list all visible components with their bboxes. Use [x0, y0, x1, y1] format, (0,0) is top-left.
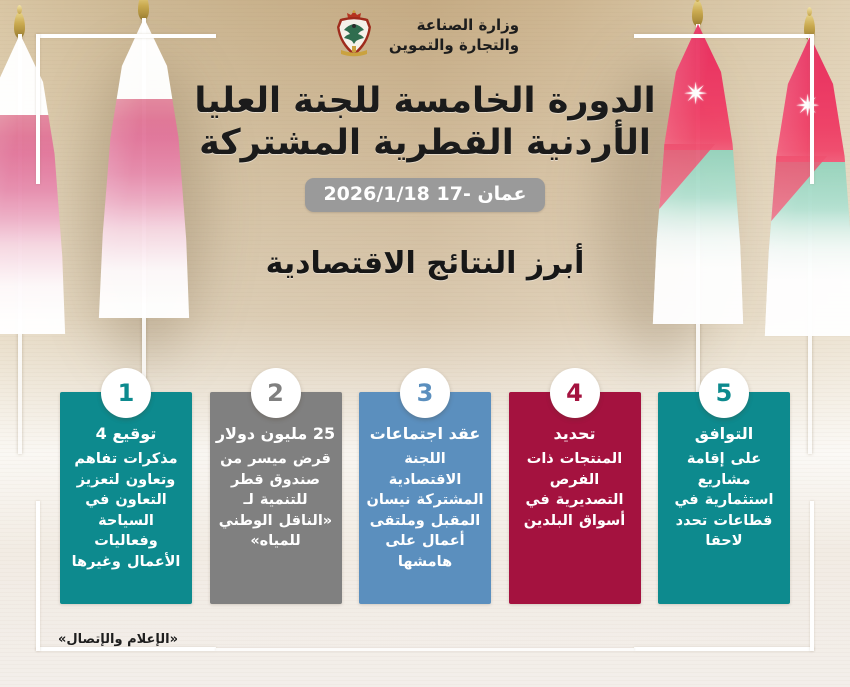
date-location-badge: عمان -17 2026/1/18: [305, 178, 544, 212]
result-heading-5: التوافق: [695, 424, 753, 444]
result-body-4: المنتجات ذات الفرص التصديرية في أسواق ال…: [515, 449, 635, 531]
result-badge-3: 3: [400, 368, 450, 418]
result-body-2: قرض ميسر من صندوق قطر للتنمية لـ «الناقل…: [216, 449, 336, 552]
section-title: أبرز النتائج الاقتصادية: [0, 246, 850, 281]
result-number-1: 1: [106, 373, 146, 413]
ministry-title-line1: وزارة الصناعة: [389, 15, 519, 35]
result-heading-4: تحديد: [553, 424, 595, 444]
result-body-1: مذكرات تفاهم وتعاون لتعزيز التعاون في ال…: [66, 449, 186, 572]
result-heading-1: توقيع 4: [96, 424, 157, 444]
ministry-title: وزارة الصناعة والتجارة والتموين: [389, 15, 519, 56]
result-badge-1: 1: [101, 368, 151, 418]
result-number-3: 3: [405, 373, 445, 413]
results-columns: 5 التوافق على إقامة مشاريع استثمارية في …: [60, 392, 790, 604]
page-title-line1: الدورة الخامسة للجنة العليا: [0, 80, 850, 122]
result-number-4: 4: [555, 373, 595, 413]
result-column-2[interactable]: 2 25 مليون دولار قرض ميسر من صندوق قطر ل…: [210, 392, 342, 604]
result-column-4[interactable]: 4 تحديد المنتجات ذات الفرص التصديرية في …: [509, 392, 641, 604]
result-body-3: اللجنة الاقتصادية المشتركة نيسان المقبل …: [365, 449, 485, 572]
result-column-1[interactable]: 1 توقيع 4 مذكرات تفاهم وتعاون لتعزيز الت…: [60, 392, 192, 604]
result-badge-4: 4: [550, 368, 600, 418]
result-heading-2: 25 مليون دولار: [216, 424, 335, 444]
page-title-line2: الأردنية القطرية المشتركة: [0, 122, 850, 164]
jordan-coat-of-arms-icon: [331, 10, 377, 60]
title-block: الدورة الخامسة للجنة العليا الأردنية الق…: [0, 80, 850, 281]
footer-credit: «الإعلام والإتصال»: [58, 632, 178, 647]
page-title: الدورة الخامسة للجنة العليا الأردنية الق…: [0, 80, 850, 164]
ministry-title-line2: والتجارة والتموين: [389, 35, 519, 55]
result-number-5: 5: [704, 373, 744, 413]
result-column-5[interactable]: 5 التوافق على إقامة مشاريع استثمارية في …: [658, 392, 790, 604]
header: وزارة الصناعة والتجارة والتموين: [0, 10, 850, 60]
result-heading-3: عقد اجتماعات: [370, 424, 481, 444]
result-body-5: على إقامة مشاريع استثمارية في قطاعات تحد…: [664, 449, 784, 552]
result-badge-2: 2: [251, 368, 301, 418]
result-column-3[interactable]: 3 عقد اجتماعات اللجنة الاقتصادية المشترك…: [359, 392, 491, 604]
result-number-2: 2: [256, 373, 296, 413]
result-badge-5: 5: [699, 368, 749, 418]
